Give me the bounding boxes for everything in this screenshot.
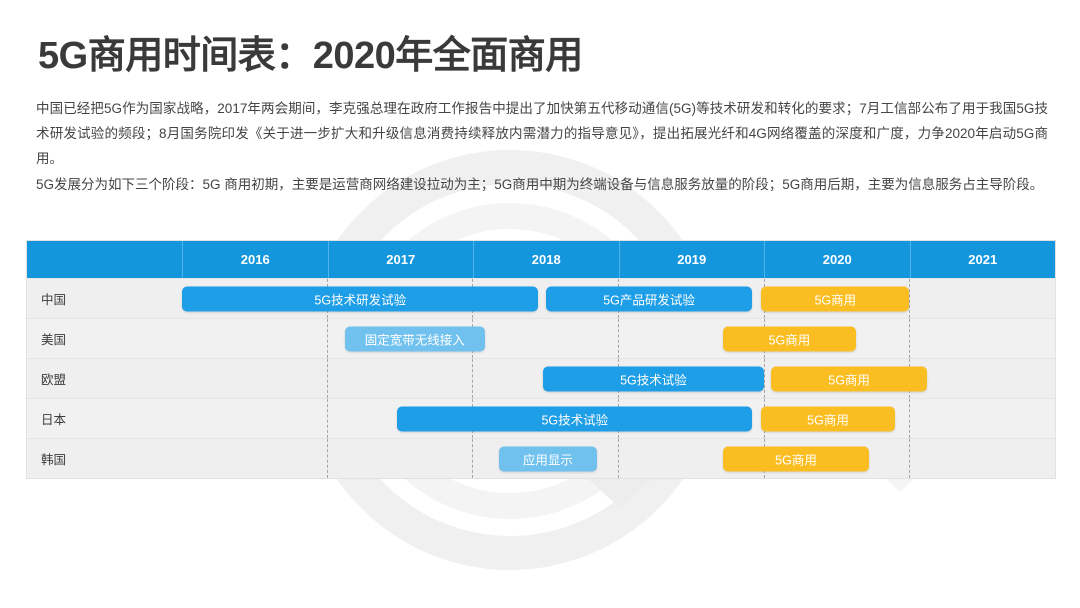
gantt-bar-label: 5G商用 [814,289,856,308]
gantt-row-label-中国: 中国 [27,279,182,318]
gantt-row-track: 应用显示5G商用 [182,439,1055,478]
gantt-bar[interactable]: 5G技术试验 [543,366,764,391]
gantt-year-header-2020: 2020 [764,241,910,278]
gantt-header-row: 201620172018201920202021 [27,241,1055,278]
gantt-year-header-2018: 2018 [473,241,619,278]
gantt-bar[interactable]: 5G商用 [771,366,927,391]
gantt-row: 日本5G技术试验5G商用 [27,398,1055,438]
gantt-row: 韩国应用显示5G商用 [27,438,1055,478]
gantt-year-header-2017: 2017 [328,241,474,278]
timeline-gantt-chart: 201620172018201920202021 中国5G技术研发试验5G产品研… [26,240,1056,479]
gantt-bar-label: 5G商用 [769,329,811,348]
gantt-row-label-日本: 日本 [27,399,182,438]
intro-paragraph-2: 5G发展分为如下三个阶段：5G 商用初期，主要是运营商网络建设拉动为主；5G商用… [36,172,1048,197]
gantt-bar-label: 应用显示 [523,449,573,468]
gantt-bar[interactable]: 5G商用 [761,286,909,311]
gantt-bar[interactable]: 5G技术试验 [397,406,752,431]
gantt-row-track: 固定宽带无线接入5G商用 [182,319,1055,358]
gantt-bar-label: 5G技术试验 [541,409,608,428]
gantt-bar[interactable]: 应用显示 [499,446,596,471]
gantt-row-label-欧盟: 欧盟 [27,359,182,398]
gantt-row: 美国固定宽带无线接入5G商用 [27,318,1055,358]
gantt-bar-label: 固定宽带无线接入 [365,329,465,348]
gantt-row-label-美国: 美国 [27,319,182,358]
gantt-bar-label: 5G技术试验 [620,369,687,388]
gantt-bar-label: 5G技术研发试验 [314,289,406,308]
gantt-year-header-2019: 2019 [619,241,765,278]
gantt-bar[interactable]: 5G商用 [723,326,855,351]
gantt-row: 中国5G技术研发试验5G产品研发试验5G商用 [27,278,1055,318]
gantt-bar[interactable]: 5G商用 [723,446,868,471]
gantt-bar[interactable]: 5G产品研发试验 [546,286,753,311]
gantt-gridlines [182,439,1055,478]
gantt-bar-label: 5G产品研发试验 [603,289,695,308]
gantt-year-header-2016: 2016 [182,241,328,278]
gantt-bar-label: 5G商用 [807,409,849,428]
gantt-bar[interactable]: 5G商用 [761,406,895,431]
gantt-row-label-韩国: 韩国 [27,439,182,478]
gantt-row-track: 5G技术试验5G商用 [182,399,1055,438]
gantt-row-track: 5G技术试验5G商用 [182,359,1055,398]
gantt-gridlines [182,319,1055,358]
intro-paragraph-1: 中国已经把5G作为国家战略，2017年两会期间，李克强总理在政府工作报告中提出了… [36,96,1048,171]
gantt-bar[interactable]: 5G技术研发试验 [182,286,538,311]
gantt-year-header-2021: 2021 [910,241,1056,278]
gantt-bar[interactable]: 固定宽带无线接入 [345,326,485,351]
gantt-row-track: 5G技术研发试验5G产品研发试验5G商用 [182,279,1055,318]
gantt-row: 欧盟5G技术试验5G商用 [27,358,1055,398]
gantt-bar-label: 5G商用 [775,449,817,468]
gantt-body: 中国5G技术研发试验5G产品研发试验5G商用美国固定宽带无线接入5G商用欧盟5G… [27,278,1055,478]
gantt-bar-label: 5G商用 [828,369,870,388]
gantt-header-label-cell [27,241,182,278]
page-title: 5G商用时间表：2020年全面商用 [38,24,583,79]
